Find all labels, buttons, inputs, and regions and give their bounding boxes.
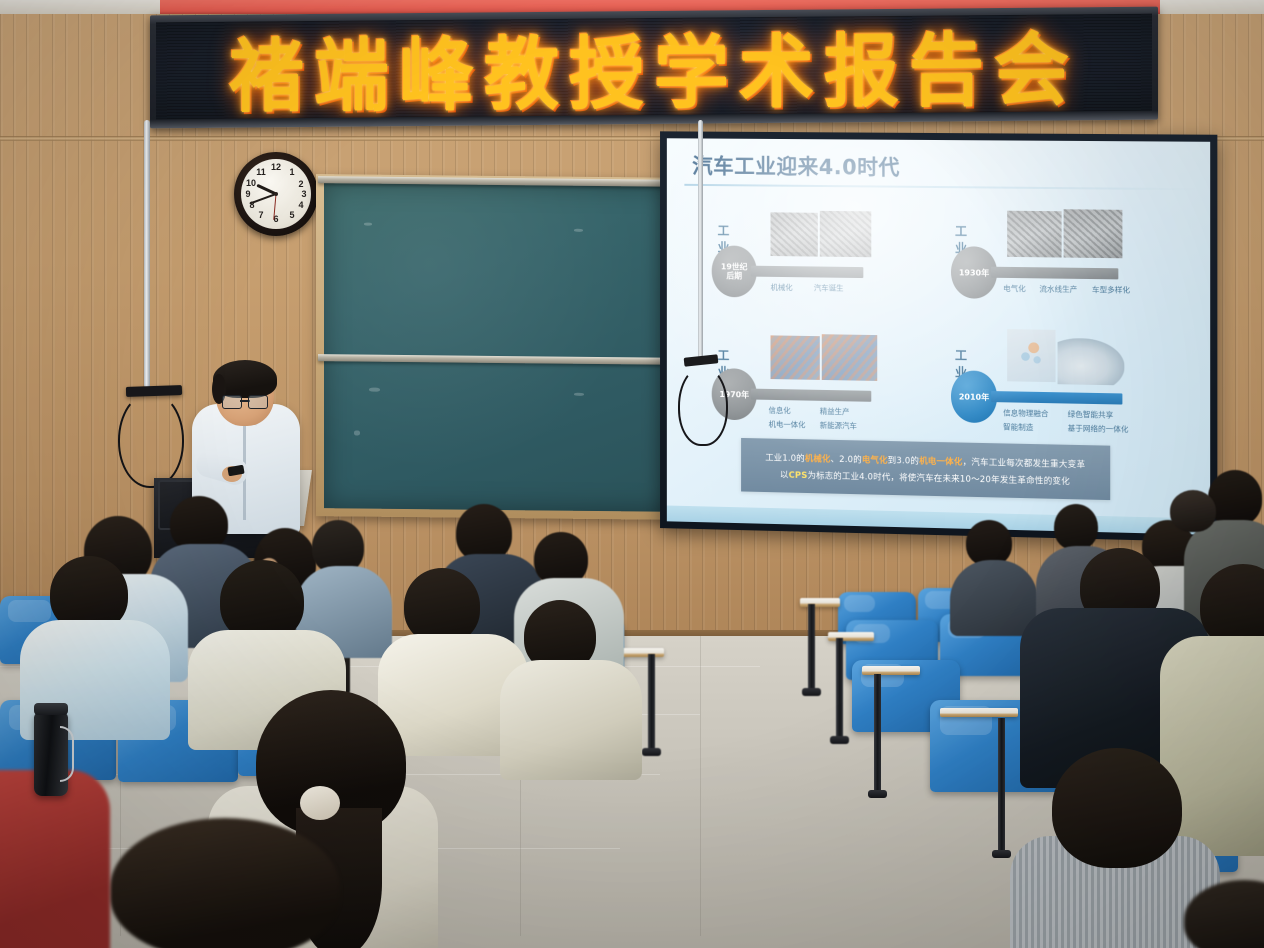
era-4-keyword-2: 绿色智能共享	[1068, 409, 1114, 421]
summary-line-1: 工业1.0的机械化、2.0的电气化到3.0的机电一体化，汽车工业每次都发生重大变…	[765, 451, 1085, 470]
desk	[940, 708, 1018, 717]
mic-cable-loop	[118, 392, 184, 488]
summary-1-seg-7: ，汽车工业每次都发生重大变革	[963, 457, 1086, 470]
led-banner: 褚端峰教授学术报告会	[150, 7, 1158, 129]
clock-numeral-1: 1	[286, 167, 298, 177]
lecture-hall-photo: 褚端峰教授学术报告会 12 1 2 3 4 5 6 7 8 9 10 11	[0, 0, 1264, 948]
cable-clip-icon	[684, 354, 719, 367]
era-4-keyword-4: 基于网络的一体化	[1068, 423, 1129, 435]
era-4-keyword-1: 信息物理融合	[1003, 407, 1048, 419]
mic-pole	[144, 120, 150, 388]
summary-line-2: 以CPS为标志的工业4.0时代，将使汽车在未来10～20年发生革命性的变化	[780, 468, 1070, 487]
glasses-icon	[222, 395, 268, 407]
thermos-bottle-strap	[60, 726, 74, 782]
era-2-image-1	[1007, 211, 1061, 258]
era-1-image-2	[820, 211, 871, 257]
era-4-keyword-3: 智能制造	[1003, 421, 1033, 433]
summary-1-seg-5: 到3.0的	[888, 455, 919, 466]
era-4-image-1	[1007, 329, 1055, 382]
desk	[800, 598, 840, 607]
era-3-keyword-2: 精益生产	[820, 406, 850, 418]
era-1-bar	[751, 266, 863, 278]
era-3-image-1	[771, 335, 820, 380]
clock-numeral-7: 7	[255, 210, 267, 220]
era-4-image-2	[1058, 338, 1125, 385]
desk	[828, 632, 874, 641]
era-1-keyword-1: 机械化	[771, 282, 793, 293]
wall-clock: 12 1 2 3 4 5 6 7 8 9 10 11	[234, 152, 318, 236]
clock-numeral-4: 4	[295, 200, 307, 210]
projector-cable	[672, 120, 742, 420]
thermos-bottle	[34, 712, 68, 796]
clock-numeral-3: 3	[298, 189, 310, 199]
era-3-bar	[751, 389, 871, 402]
led-banner-panel: 褚端峰教授学术报告会	[156, 14, 1152, 120]
era-1-keyword-2: 汽车诞生	[814, 282, 844, 293]
summary-2-seg-3: 为标志的工业4.0时代，将使汽车在未来10～20年发生革命性的变化	[808, 471, 1070, 487]
era-3-keyword-3: 机电一体化	[769, 419, 806, 431]
era-4-bar	[991, 391, 1122, 405]
thermos-bottle-cap	[34, 703, 68, 715]
clock-center-pin	[274, 192, 278, 196]
era-2-keyword-2: 流水线生产	[1039, 283, 1077, 295]
summary-2-seg-2: CPS	[789, 470, 808, 480]
clock-numeral-12: 12	[270, 162, 282, 172]
clock-numeral-11: 11	[255, 167, 267, 177]
clock-numeral-9: 9	[242, 189, 254, 199]
blackboard-surface	[324, 182, 678, 512]
era-2-image-2	[1064, 209, 1123, 258]
clock-numeral-10: 10	[245, 178, 257, 188]
clock-numeral-2: 2	[295, 179, 307, 189]
summary-1-seg-2: 机械化	[805, 454, 831, 465]
slide-summary-bar: 工业1.0的机械化、2.0的电气化到3.0的机电一体化，汽车工业每次都发生重大变…	[741, 438, 1110, 500]
era-3-keyword-4: 新能源汽车	[820, 420, 857, 432]
era-2-keyword-1: 电气化	[1003, 283, 1026, 294]
led-banner-text: 褚端峰教授学术报告会	[229, 14, 1079, 120]
clock-numeral-5: 5	[286, 210, 298, 220]
era-1-image-1	[771, 212, 818, 256]
clock-numeral-6: 6	[270, 214, 282, 224]
slide-title-rule	[684, 184, 1195, 190]
summary-1-seg-6: 机电一体化	[919, 456, 962, 467]
era-2-bar	[991, 267, 1118, 280]
summary-1-seg-3: 、2.0的	[831, 454, 862, 465]
blackboard	[316, 174, 686, 520]
cable-pole	[698, 120, 703, 360]
desk	[862, 666, 920, 675]
summary-1-seg-4: 电气化	[862, 455, 888, 466]
era-3-keyword-1: 信息化	[769, 405, 791, 416]
clock-face: 12 1 2 3 4 5 6 7 8 9 10 11	[241, 159, 311, 229]
presentation-slide: 汽车工业迎来4.0时代 工业1.0 19世纪 后期 机械化 汽车诞生 工业2.0	[667, 138, 1210, 535]
era-3-image-2	[822, 334, 877, 381]
projection-screen: 汽车工业迎来4.0时代 工业1.0 19世纪 后期 机械化 汽车诞生 工业2.0	[660, 131, 1217, 542]
era-2-keyword-3: 车型多样化	[1092, 284, 1130, 296]
cable-loop	[678, 366, 728, 446]
summary-1-seg-1: 工业1.0的	[765, 453, 805, 464]
